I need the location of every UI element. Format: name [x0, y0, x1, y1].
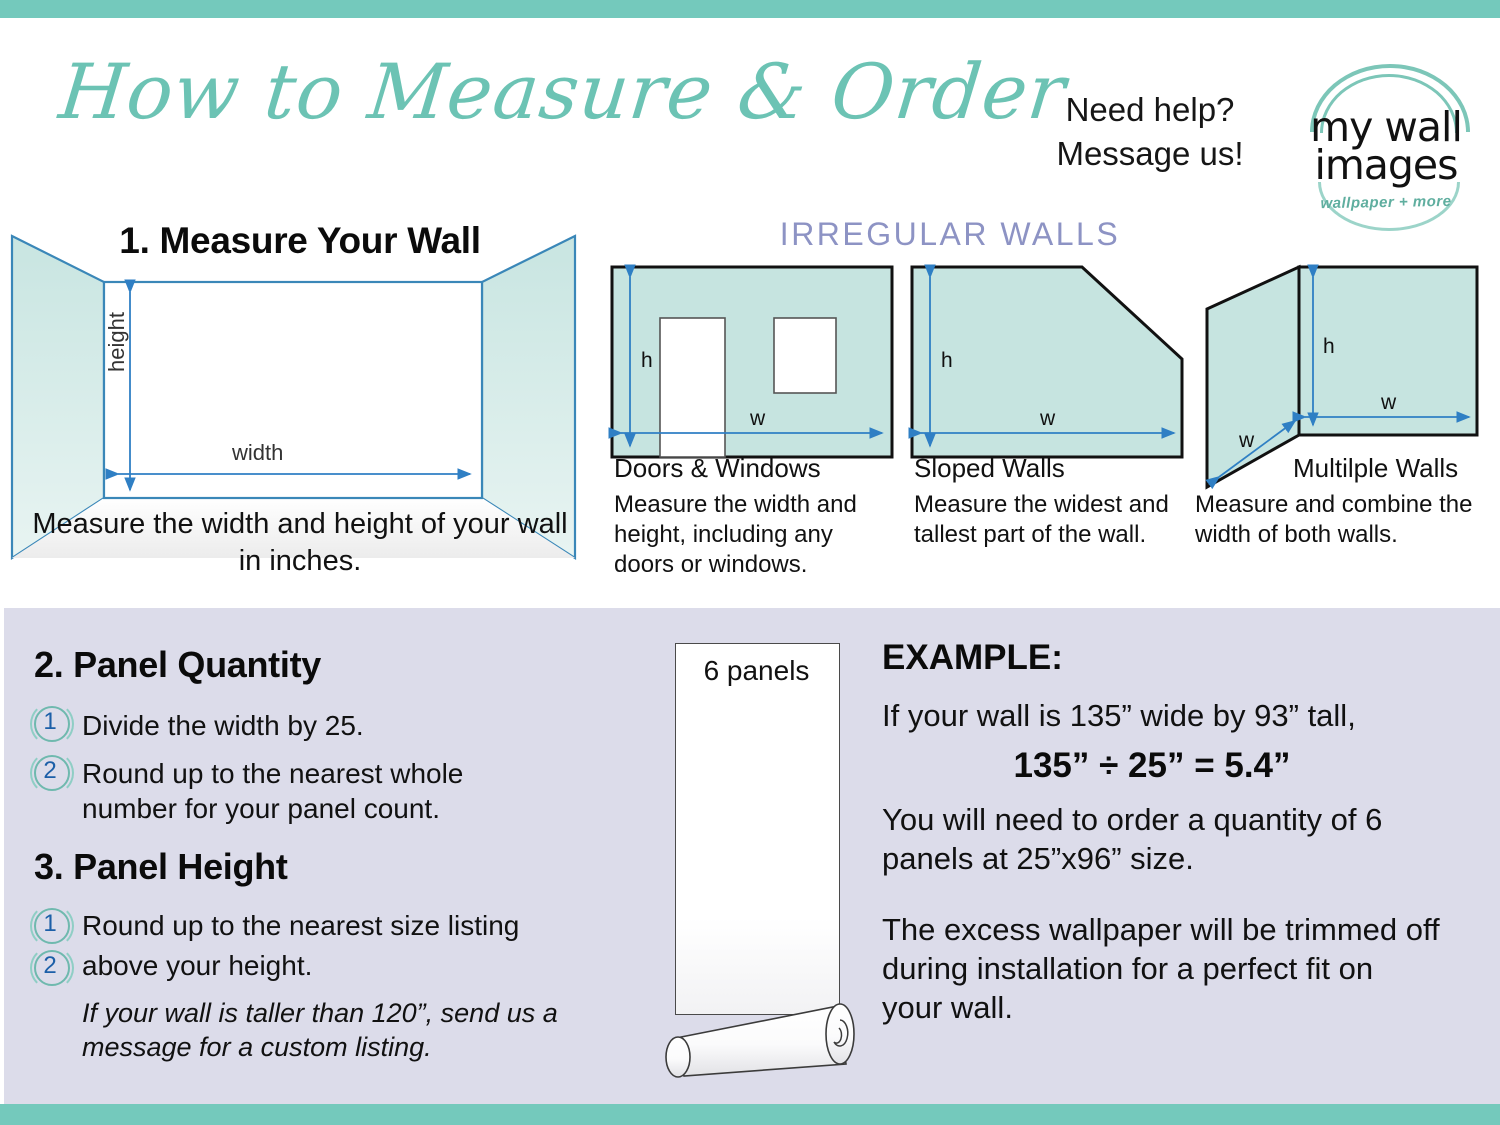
- example-line2: You will need to order a quantity of 6 p…: [882, 800, 1442, 878]
- infographic-page: How to Measure & Order Need help? Messag…: [0, 0, 1500, 1125]
- need-help-line1: Need help?: [1040, 88, 1260, 132]
- need-help-line2: Message us!: [1040, 132, 1260, 176]
- roll-right-cap: [826, 1004, 854, 1064]
- example-title: EXAMPLE:: [882, 638, 1063, 678]
- roll-panel-count-label: 6 panels: [675, 655, 838, 687]
- example-equation: 135” ÷ 25” = 5.4”: [882, 746, 1422, 786]
- door-shape: [660, 318, 725, 457]
- doors-windows-diagram: h w: [608, 263, 898, 473]
- angled-wall-shape: [1207, 267, 1299, 487]
- step3-marker-1: 1: [32, 906, 72, 946]
- card-title: Sloped Walls: [914, 453, 1065, 484]
- card-desc: Measure and combine the width of both wa…: [1195, 490, 1491, 550]
- w2-label: w: [1238, 429, 1255, 452]
- card-title: Doors & Windows: [614, 453, 821, 484]
- step3-item-1: Round up to the nearest size listing: [82, 908, 582, 943]
- logo-line2: images: [1296, 146, 1476, 185]
- h-label: h: [941, 349, 953, 372]
- step2-marker-2: 2: [32, 753, 72, 793]
- card-desc: Measure the widest and tallest part of t…: [914, 490, 1186, 550]
- example-line1: If your wall is 135” wide by 93” tall,: [882, 696, 1442, 735]
- sloped-wall-diagram: h w: [908, 263, 1188, 473]
- height-label: height: [104, 312, 130, 372]
- w-label: w: [1380, 391, 1397, 414]
- window-shape: [774, 318, 836, 393]
- section1-caption: Measure the width and height of your wal…: [20, 506, 580, 579]
- marker-number: 2: [34, 950, 66, 982]
- wallpaper-sheet: [675, 643, 840, 1015]
- step3-marker-2: 2: [32, 948, 72, 988]
- step3-title: 3. Panel Height: [34, 846, 288, 888]
- example-line3: The excess wallpaper will be trimmed off…: [882, 910, 1442, 1027]
- bottom-accent-bar: [0, 1104, 1500, 1125]
- roll-left-cap: [666, 1037, 690, 1077]
- brand-logo: my wall images wallpaper + more: [1296, 58, 1476, 218]
- h-label: h: [641, 349, 653, 372]
- room-back-wall: [104, 282, 482, 498]
- logo-tagline: wallpaper + more: [1296, 192, 1476, 212]
- marker-number: 2: [34, 755, 66, 787]
- step2-item-1: Divide the width by 25.: [82, 708, 552, 743]
- w-label: w: [749, 407, 766, 430]
- step3-note: If your wall is taller than 120”, send u…: [82, 996, 572, 1065]
- card-desc: Measure the width and height, including …: [614, 490, 896, 579]
- top-accent-bar: [0, 0, 1500, 18]
- marker-number: 1: [34, 908, 66, 940]
- h-label: h: [1323, 335, 1335, 358]
- card-title: Multilple Walls: [1293, 453, 1458, 484]
- measure-wall-section: height width 1. Measure Your Wall Measur…: [0, 208, 600, 600]
- need-help-text: Need help? Message us!: [1040, 88, 1260, 175]
- step2-title: 2. Panel Quantity: [34, 644, 321, 686]
- roll-body: [676, 1006, 846, 1076]
- wallpaper-roll-icon: [650, 980, 870, 1090]
- header: How to Measure & Order Need help? Messag…: [0, 18, 1500, 208]
- marker-number: 1: [34, 706, 66, 738]
- width-label: width: [232, 440, 283, 466]
- section1-title: 1. Measure Your Wall: [0, 220, 600, 262]
- step3-item-2: above your height.: [82, 948, 582, 983]
- w-label: w: [1039, 407, 1056, 430]
- step2-item-2: Round up to the nearest whole number for…: [82, 756, 532, 827]
- page-title: How to Measure & Order: [56, 54, 1024, 130]
- step2-marker-1: 1: [32, 704, 72, 744]
- irregular-walls-heading: IRREGULAR WALLS: [600, 216, 1300, 253]
